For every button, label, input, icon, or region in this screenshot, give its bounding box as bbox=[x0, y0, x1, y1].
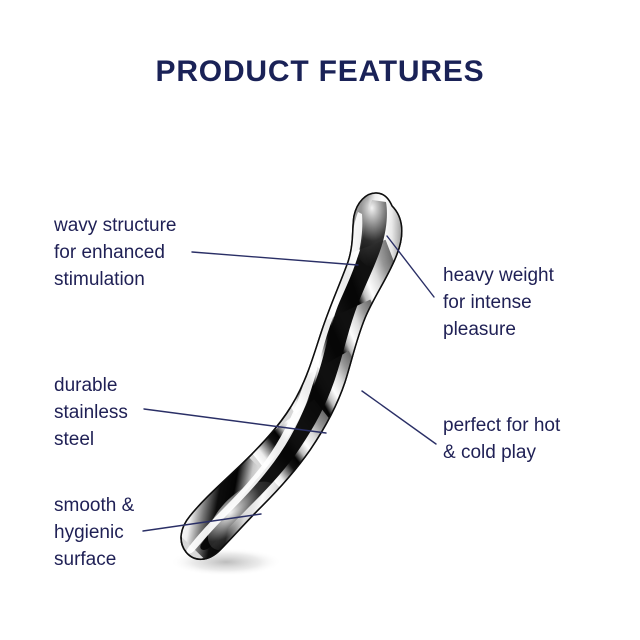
callout-durable-stainless-steel: durable stainless steel bbox=[54, 372, 128, 453]
leader-line-perfect bbox=[362, 391, 436, 444]
leader-line-smooth bbox=[143, 514, 261, 531]
leader-line-durable bbox=[144, 409, 326, 433]
callout-wavy-structure: wavy structure for enhanced stimulation bbox=[54, 212, 176, 293]
page-title: PRODUCT FEATURES bbox=[0, 55, 640, 89]
specular-dark-band bbox=[200, 200, 387, 550]
callout-line: stimulation bbox=[54, 266, 176, 293]
product-body bbox=[170, 185, 411, 589]
callout-line: & cold play bbox=[443, 439, 560, 466]
callout-line: surface bbox=[54, 546, 134, 573]
product-features-infographic: PRODUCT FEATURES bbox=[0, 0, 640, 640]
callout-line: smooth & bbox=[54, 492, 134, 519]
callout-line: durable bbox=[54, 372, 128, 399]
callout-smooth-hygienic-surface: smooth & hygienic surface bbox=[54, 492, 134, 573]
callout-line: wavy structure bbox=[54, 212, 176, 239]
leader-line-wavy bbox=[192, 252, 358, 265]
callout-line: pleasure bbox=[443, 316, 554, 343]
specular-white-edge bbox=[187, 212, 363, 554]
callout-line: for enhanced bbox=[54, 239, 176, 266]
callout-hot-and-cold-play: perfect for hot & cold play bbox=[443, 412, 560, 466]
leader-lines bbox=[143, 236, 436, 531]
callout-line: heavy weight bbox=[443, 262, 554, 289]
callout-line: stainless bbox=[54, 399, 128, 426]
callout-line: hygienic bbox=[54, 519, 134, 546]
callout-heavy-weight: heavy weight for intense pleasure bbox=[443, 262, 554, 343]
callout-line: for intense bbox=[443, 289, 554, 316]
callout-line: perfect for hot bbox=[443, 412, 560, 439]
leader-line-heavy bbox=[387, 236, 434, 297]
product-shadow bbox=[170, 548, 282, 576]
callout-line: steel bbox=[54, 426, 128, 453]
